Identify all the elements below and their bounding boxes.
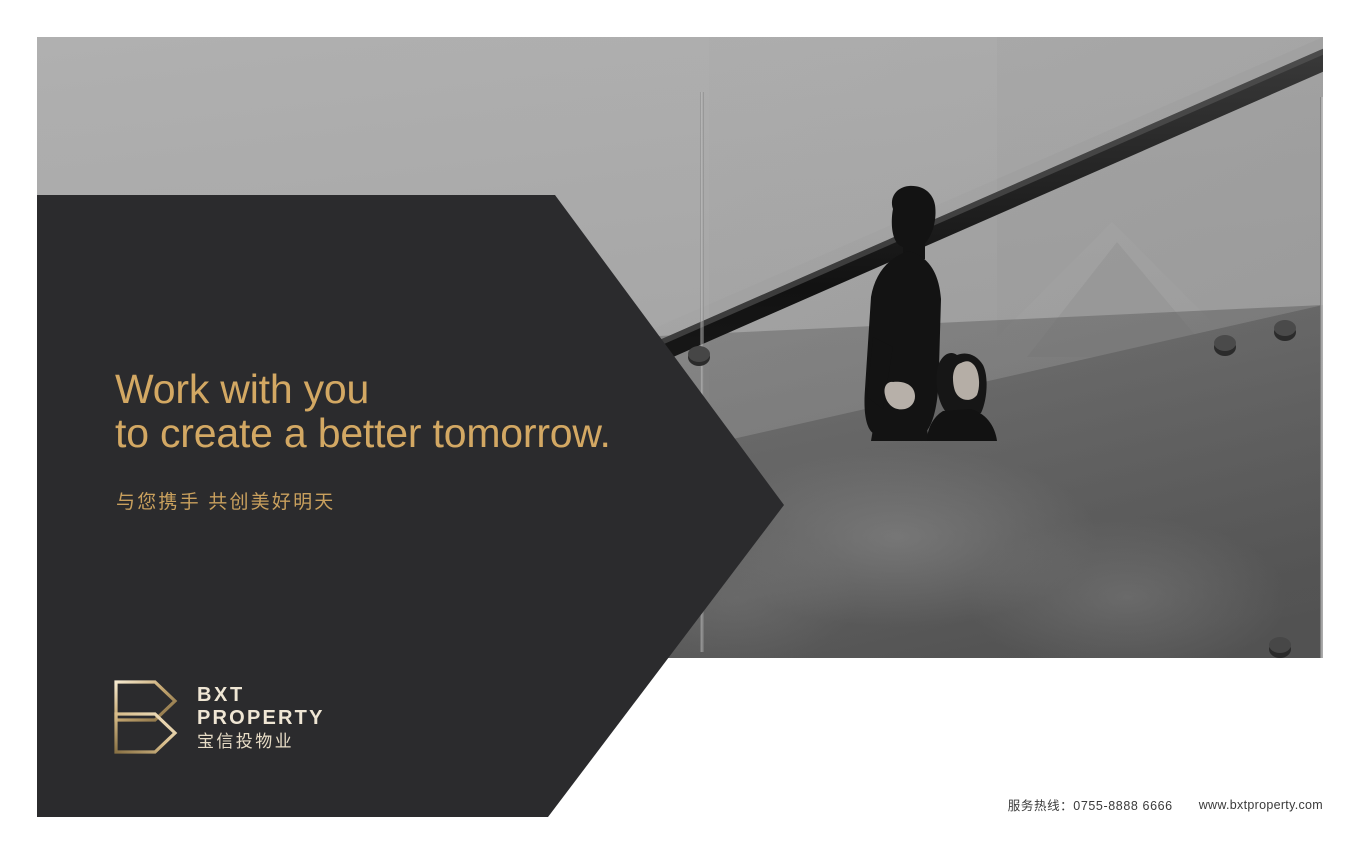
service-hotline: 服务热线：0755-8888 6666 [1008,795,1173,814]
website-url[interactable]: www.bxtproperty.com [1199,798,1323,812]
banner-content: Work with you to create a better tomorro… [37,195,784,818]
logo-wordmark: BXT PROPERTY 宝信投物业 [197,685,325,750]
slide-canvas: Work with you to create a better tomorro… [0,0,1360,850]
logo-lockup: BXT PROPERTY 宝信投物业 [111,678,325,756]
subheadline-chinese: 与您携手 共创美好明天 [116,487,335,514]
logo-name-line1: BXT [197,685,325,705]
footer-contact: 服务热线：0755-8888 6666 www.bxtproperty.com [1008,795,1323,814]
logo-name-line2: PROPERTY [197,708,325,728]
headline: Work with you to create a better tomorro… [115,367,611,455]
logo-name-chinese: 宝信投物业 [197,733,325,750]
bxt-b-monogram-icon [111,678,179,756]
